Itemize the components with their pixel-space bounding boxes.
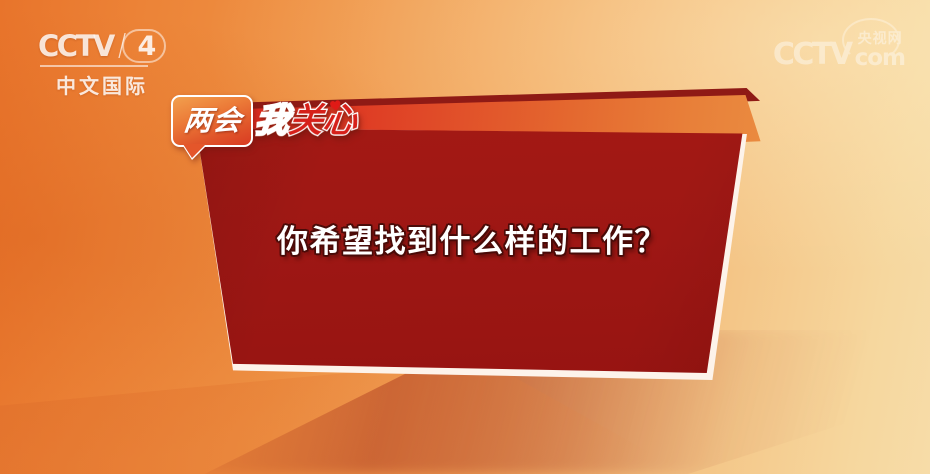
badge-bubble-text: 两会 <box>183 107 244 135</box>
watermark-wordmark: CCTV <box>773 40 851 70</box>
badge-slogan: 我 关 心 <box>251 95 363 147</box>
badge-char-guan: 关 <box>287 104 325 138</box>
cctv-logo-divider <box>40 65 148 67</box>
badge-speech-bubble: 两会 <box>171 95 253 147</box>
cctv-com-watermark: CCTV 央视网 com <box>773 32 905 70</box>
cctv-wordmark: CCTV <box>38 32 113 61</box>
watermark-ring-icon <box>842 18 900 62</box>
broadcast-screen: CCTV / 4 中文国际 CCTV 央视网 com 你希望找到什么样的工作？ … <box>0 0 930 474</box>
watermark-right-group: 央视网 com <box>852 32 905 70</box>
question-text: 你希望找到什么样的工作？ <box>232 216 712 261</box>
badge-char-wo: 我 <box>253 104 291 138</box>
cctv4-channel-logo: CCTV / 4 中文国际 <box>38 30 164 99</box>
cctv-logo-row: CCTV / 4 <box>38 30 164 62</box>
channel-number: 4 <box>138 33 157 60</box>
channel-name-cn: 中文国际 <box>40 70 164 99</box>
channel-number-ring-icon: 4 <box>130 30 164 62</box>
program-badge: 两会 我 关 心 <box>171 95 363 147</box>
background-facet-edge <box>0 360 930 474</box>
heart-icon <box>329 99 341 111</box>
